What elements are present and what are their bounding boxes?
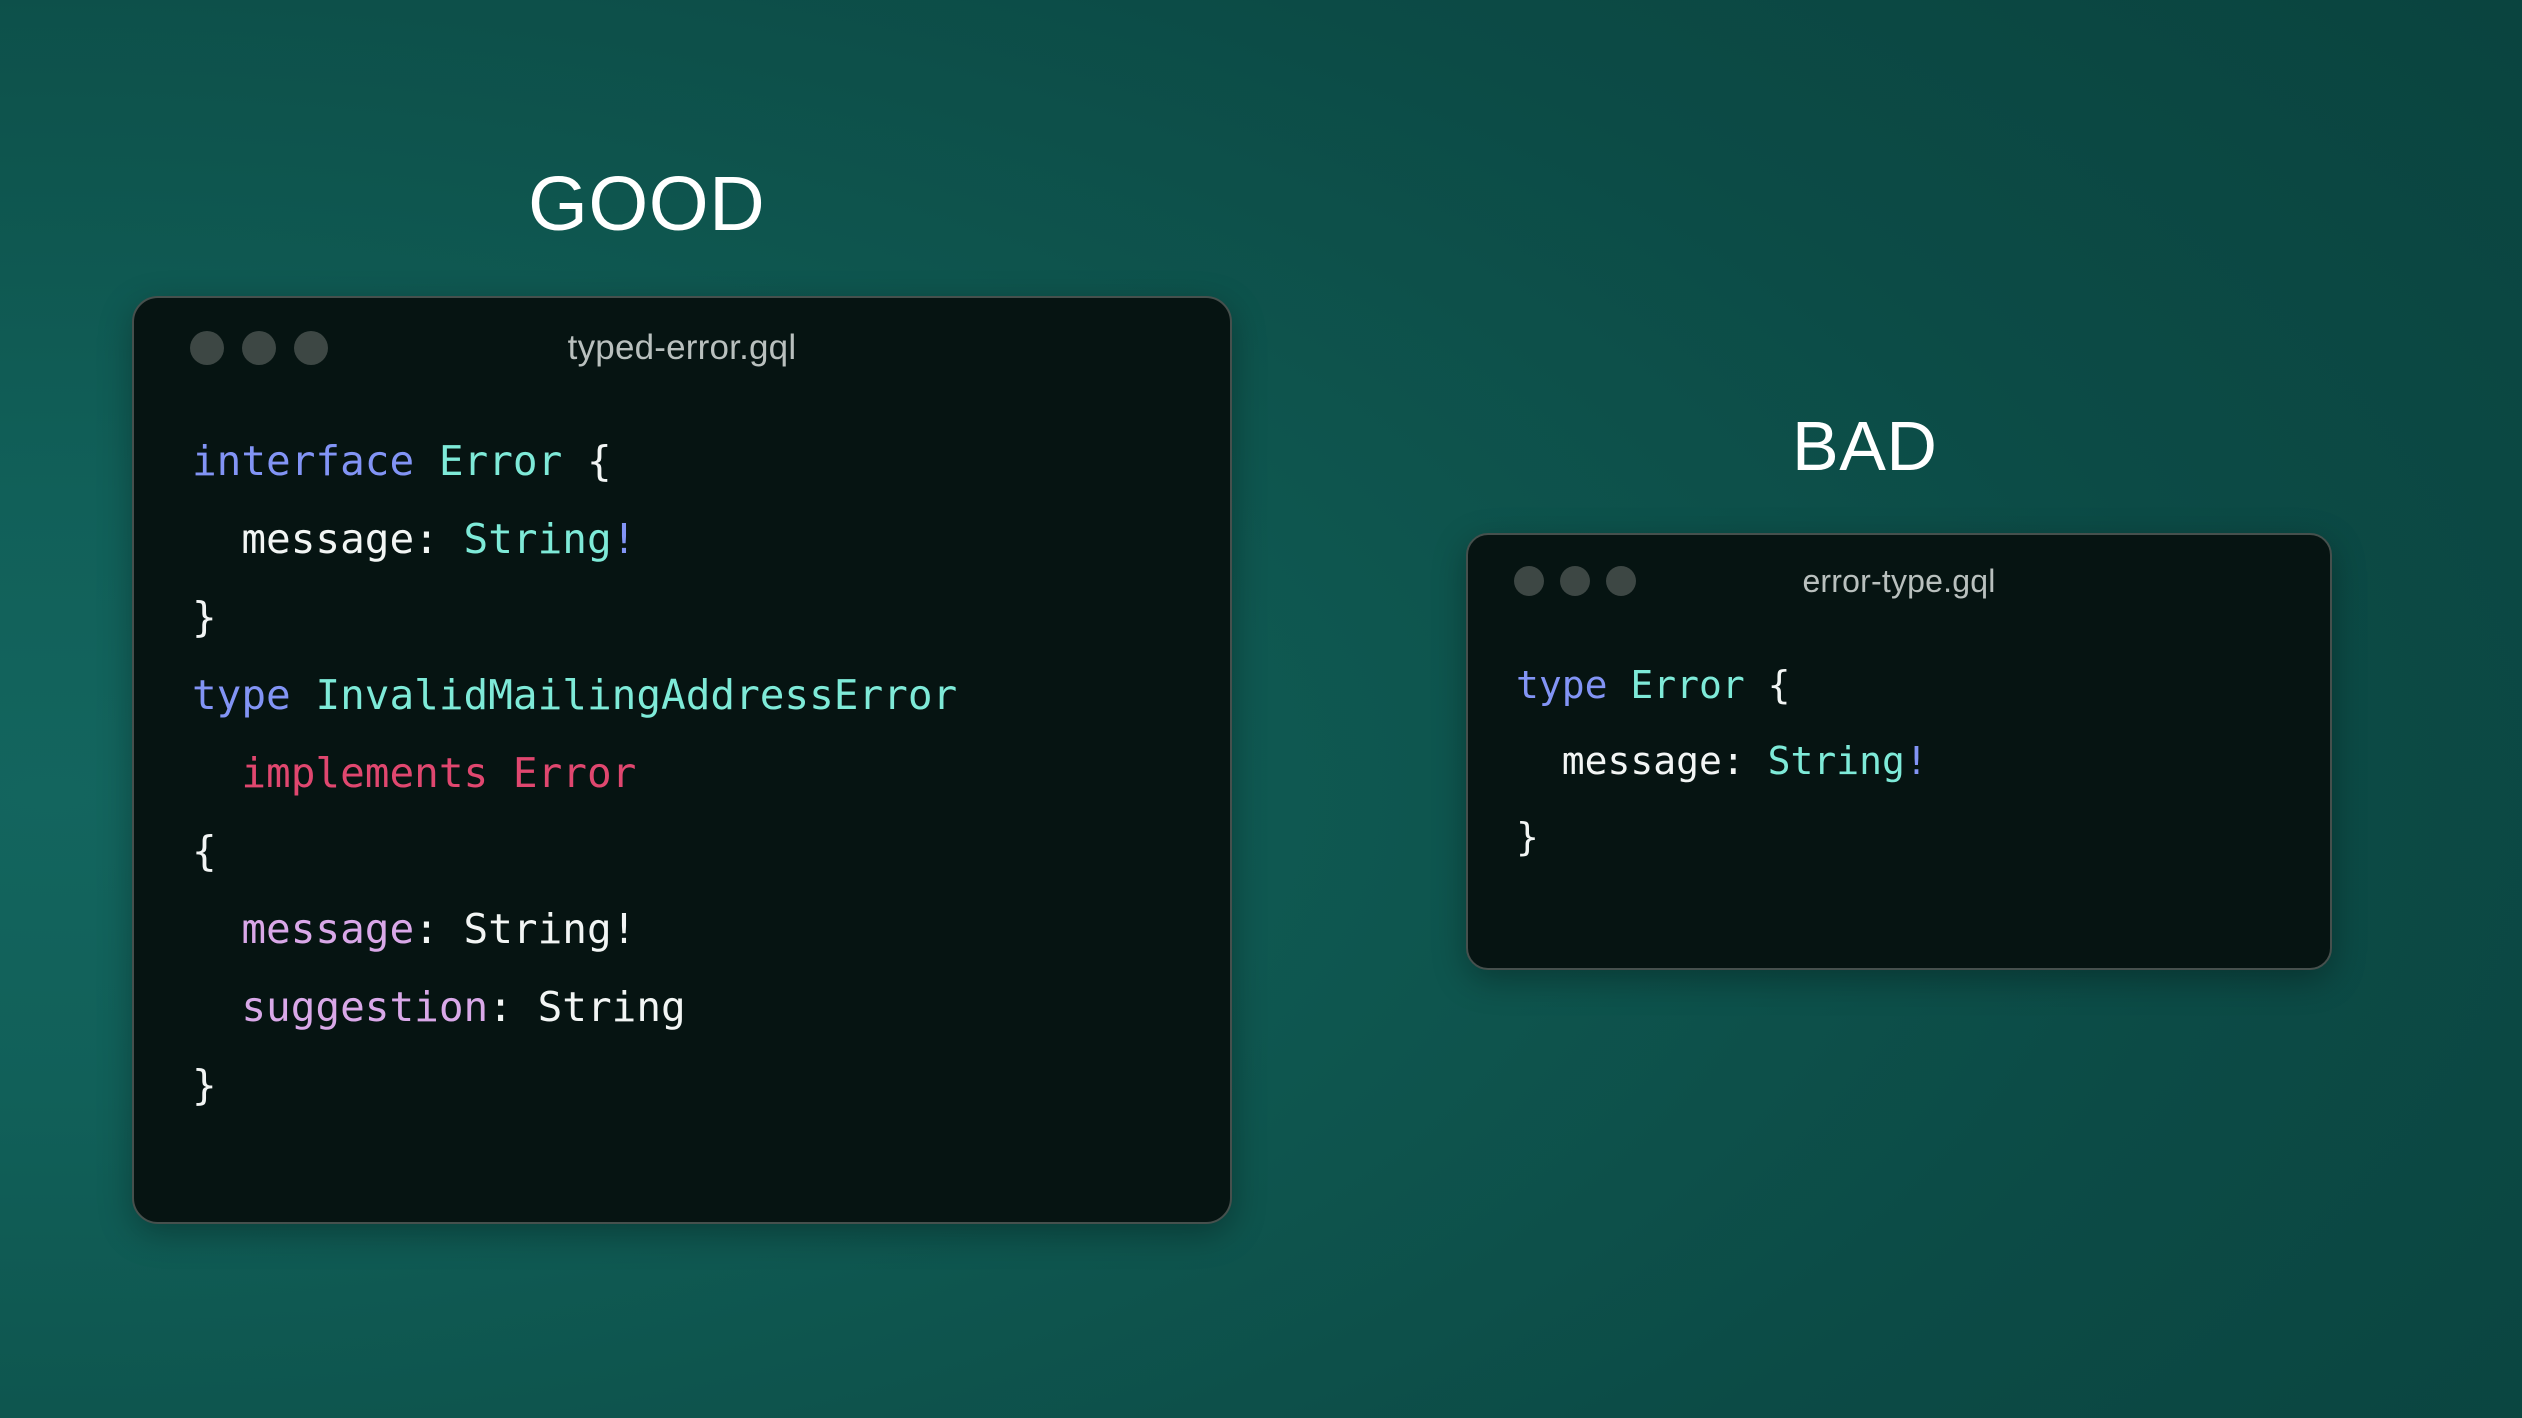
code-token-plain: } <box>192 593 217 641</box>
code-line: message: String! <box>192 890 1230 968</box>
code-token-keyword: type <box>1516 663 1608 707</box>
code-block: interface Error { message: String!}type … <box>134 398 1230 1124</box>
window-title-bar: error-type.gql <box>1468 535 2330 627</box>
good-example-label: GOOD <box>528 166 765 243</box>
window-controls <box>1514 566 1636 596</box>
code-token-bang: ! <box>1905 739 1928 783</box>
window-title-bar: typed-error.gql <box>134 298 1230 398</box>
code-token-field: suggestion <box>241 983 488 1031</box>
code-token-plain: } <box>192 1061 217 1109</box>
code-token-plain: : String! <box>414 905 636 953</box>
code-token-plain: } <box>1516 815 1539 859</box>
code-token-type: InvalidMailingAddressError <box>315 671 957 719</box>
code-token-plain: { <box>1745 663 1791 707</box>
code-line: message: String! <box>1516 723 2330 799</box>
code-token-plain <box>192 905 241 953</box>
slide-canvas: GOOD typed-error.gql interface Error { m… <box>0 0 2522 1418</box>
code-token-plain <box>1608 663 1631 707</box>
code-token-keyword: interface <box>192 437 414 485</box>
code-token-type: String <box>464 515 612 563</box>
window-controls <box>190 331 328 365</box>
code-token-field: message <box>241 905 414 953</box>
dot-green-icon[interactable] <box>294 331 328 365</box>
bad-example-label: BAD <box>1792 411 1937 481</box>
code-token-keyword: type <box>192 671 291 719</box>
dot-yellow-icon[interactable] <box>1560 566 1590 596</box>
code-line: interface Error { <box>192 422 1230 500</box>
code-token-plain: { <box>562 437 611 485</box>
code-line: } <box>192 578 1230 656</box>
code-line: message: String! <box>192 500 1230 578</box>
dot-yellow-icon[interactable] <box>242 331 276 365</box>
code-token-plain <box>414 437 439 485</box>
code-line: type InvalidMailingAddressError <box>192 656 1230 734</box>
code-token-impl: implements Error <box>241 749 636 797</box>
dot-red-icon[interactable] <box>1514 566 1544 596</box>
code-token-plain <box>192 749 241 797</box>
code-token-bang: ! <box>612 515 637 563</box>
code-token-plain <box>192 983 241 1031</box>
dot-green-icon[interactable] <box>1606 566 1636 596</box>
code-line: implements Error <box>192 734 1230 812</box>
code-token-type: Error <box>1630 663 1744 707</box>
code-token-plain <box>291 671 316 719</box>
code-line: { <box>192 812 1230 890</box>
code-token-plain: message: <box>192 515 464 563</box>
code-line: } <box>192 1046 1230 1124</box>
code-line: suggestion: String <box>192 968 1230 1046</box>
code-line: type Error { <box>1516 647 2330 723</box>
code-token-plain: { <box>192 827 217 875</box>
code-block: type Error { message: String!} <box>1468 627 2330 875</box>
code-card-good: typed-error.gql interface Error { messag… <box>132 296 1232 1224</box>
code-token-plain: : String <box>488 983 685 1031</box>
code-line: } <box>1516 799 2330 875</box>
dot-red-icon[interactable] <box>190 331 224 365</box>
code-token-plain: message: <box>1516 739 1768 783</box>
code-card-bad: error-type.gql type Error { message: Str… <box>1466 533 2332 970</box>
code-token-type: String <box>1768 739 1905 783</box>
code-token-type: Error <box>439 437 562 485</box>
